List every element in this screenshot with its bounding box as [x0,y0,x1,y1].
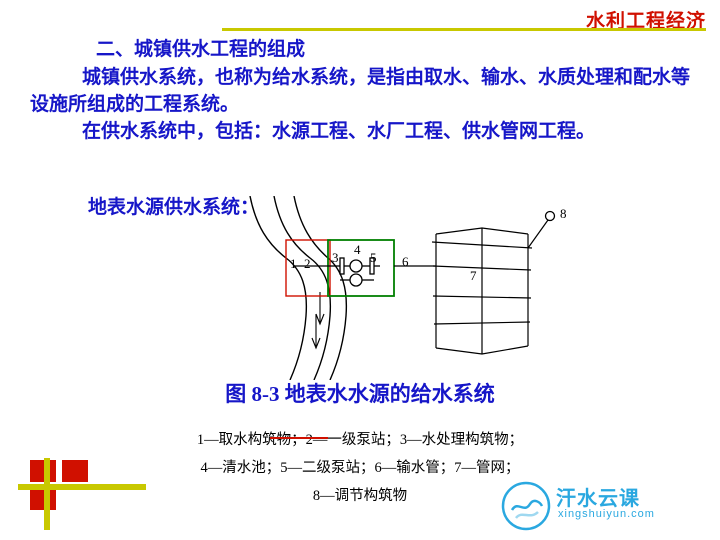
slide: 水利工程经济 二、城镇供水工程的组成 城镇供水系统，也称为给水系统，是指由取水、… [0,0,720,540]
distribution-network-grid [432,228,532,354]
reservoir-node [546,212,555,221]
diagram-label-7: 7 [470,268,477,284]
diagram-label-6: 6 [402,254,409,270]
diagram-label-3: 3 [332,250,339,266]
legend-underline-accent [270,437,328,439]
diagram-label-1: 1 [290,256,297,272]
diagram-label-8: 8 [560,206,567,222]
corner-decoration-svg [18,458,168,530]
water-supply-system-diagram: 1 2 3 4 5 6 7 8 [228,196,572,380]
deco-yellow-bar-vertical [44,458,50,530]
watermark-logo: 汗水云课 xingshuiyun.com [500,480,712,534]
figure-legend-line-1: 1—取水构筑物；2—一级泵站；3—水处理构筑物； [0,428,720,449]
diagram-svg [228,196,572,380]
body-paragraph-1: 城镇供水系统，也称为给水系统，是指由取水、输水、水质处理和配水等设施所组成的工程… [30,64,702,118]
logo-mark-icon [500,480,552,532]
logo-name: 汗水云课 [556,482,640,511]
logo-subtitle: xingshuiyun.com [558,508,655,520]
figure-caption: 图 8-3 地表水水源的给水系统 [0,378,720,408]
river-flow-arrows [312,292,324,348]
body-paragraph-2: 在供水系统中，包括：水源工程、水厂工程、供水管网工程。 [30,118,702,145]
diagram-label-2: 2 [304,256,311,272]
header-divider-rule [222,28,706,31]
deco-yellow-bar-horizontal [18,484,146,490]
reservoir-link [528,220,548,248]
deco-red-square-top-right [62,460,88,482]
deco-red-square-top [30,460,56,482]
section-heading: 二、城镇供水工程的组成 [96,36,305,63]
river-banks [250,196,346,380]
diagram-label-4: 4 [354,242,361,258]
corner-decoration [18,458,168,530]
diagram-label-5: 5 [370,250,377,266]
deco-red-square-bottom [30,488,56,510]
